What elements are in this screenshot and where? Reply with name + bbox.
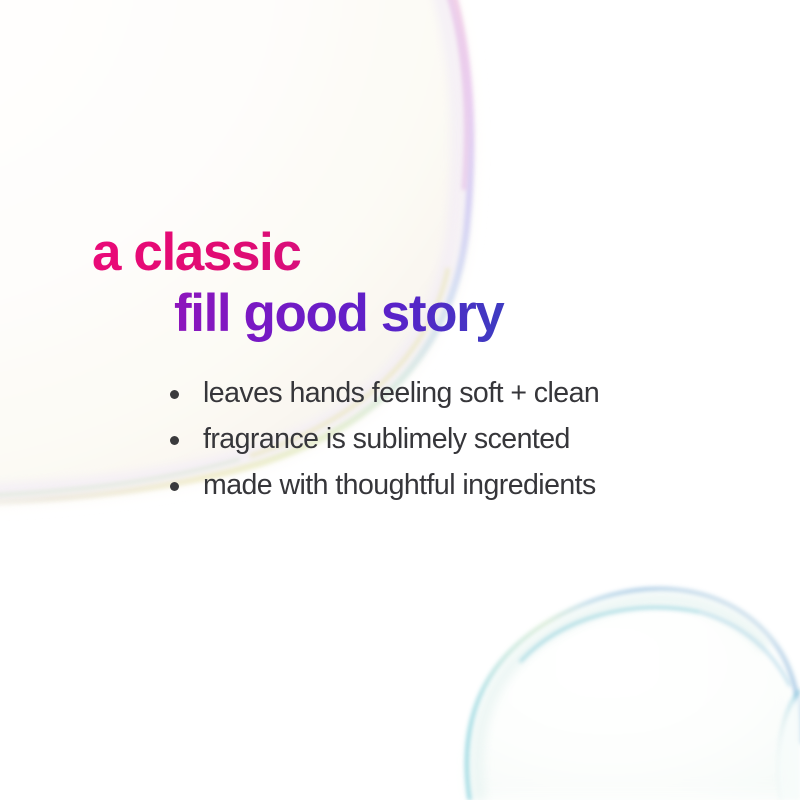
bullet-dot-icon bbox=[170, 436, 179, 445]
list-item: made with thoughtful ingredients bbox=[170, 467, 770, 504]
benefit-list: leaves hands feeling soft + clean fragra… bbox=[170, 375, 770, 513]
headline-line-2: fill good story bbox=[174, 283, 732, 344]
bullet-dot-icon bbox=[170, 390, 179, 399]
headline-line-1: a classic bbox=[92, 222, 732, 283]
bullet-dot-icon bbox=[170, 482, 179, 491]
promo-graphic-canvas: a classic fill good story leaves hands f… bbox=[0, 0, 800, 800]
headline: a classic fill good story bbox=[92, 222, 732, 345]
list-item-label: leaves hands feeling soft + clean bbox=[203, 375, 599, 412]
list-item: leaves hands feeling soft + clean bbox=[170, 375, 770, 412]
list-item: fragrance is sublimely scented bbox=[170, 421, 770, 458]
list-item-label: fragrance is sublimely scented bbox=[203, 421, 570, 458]
list-item-label: made with thoughtful ingredients bbox=[203, 467, 596, 504]
promo-copy: a classic fill good story leaves hands f… bbox=[0, 0, 800, 800]
